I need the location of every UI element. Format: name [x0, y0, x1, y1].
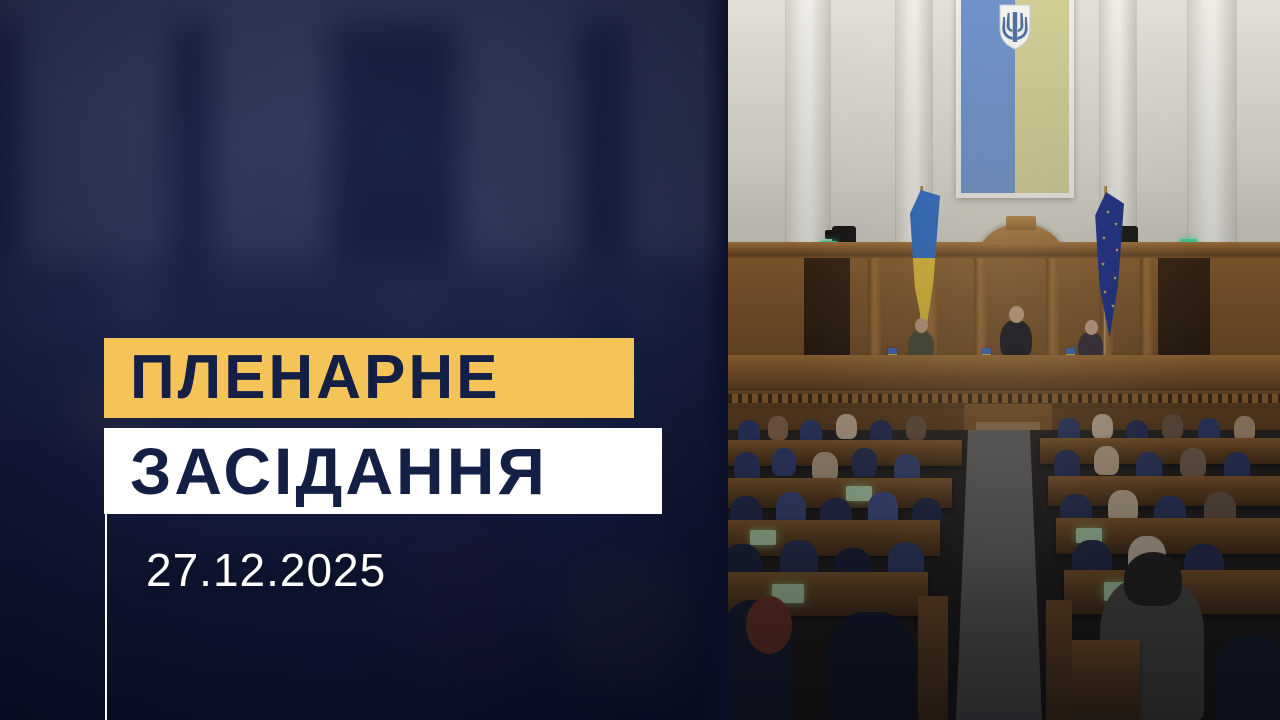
central-aisle — [956, 430, 1042, 720]
presidium-head — [1085, 320, 1098, 335]
deputy-bench — [1060, 640, 1140, 720]
ukrainian-state-flag-panel — [956, 0, 1074, 198]
rostrum-recess — [804, 258, 850, 370]
foreground-deputy-hair — [746, 596, 792, 654]
rostrum-cornice — [728, 242, 1280, 255]
presidium-head — [1009, 306, 1024, 323]
title-band-secondary: ЗАСІДАННЯ — [104, 428, 662, 514]
foreground-deputy — [828, 612, 914, 720]
voting-terminal — [846, 486, 872, 501]
title-line-2: ЗАСІДАННЯ — [130, 438, 548, 504]
presidium-chairman — [1000, 320, 1032, 360]
rostrum-arch-cap — [1006, 216, 1036, 230]
broadcast-title-card: ПЛЕНАРНЕ ЗАСІДАННЯ 27.12.2025 — [0, 0, 1280, 720]
presidium-desk — [728, 355, 1280, 389]
panel-seam-shadow — [702, 0, 728, 720]
tryzub-emblem-icon — [997, 3, 1033, 51]
rostrum-recess — [1158, 258, 1210, 370]
foreground-deputy — [1216, 636, 1280, 720]
vertical-rule — [105, 512, 107, 720]
deputy-bench — [728, 440, 962, 466]
session-hall-photo — [728, 0, 1280, 720]
foreground-deputy-head — [1124, 552, 1182, 606]
presidium-head — [915, 318, 928, 333]
bench-end-panel — [918, 596, 948, 720]
session-date: 27.12.2025 — [146, 543, 386, 597]
voting-terminal — [750, 530, 776, 545]
title-line-1: ПЛЕНАРНЕ — [130, 347, 500, 409]
title-band-primary: ПЛЕНАРНЕ — [104, 338, 634, 418]
bench-end-panel — [1046, 600, 1072, 720]
